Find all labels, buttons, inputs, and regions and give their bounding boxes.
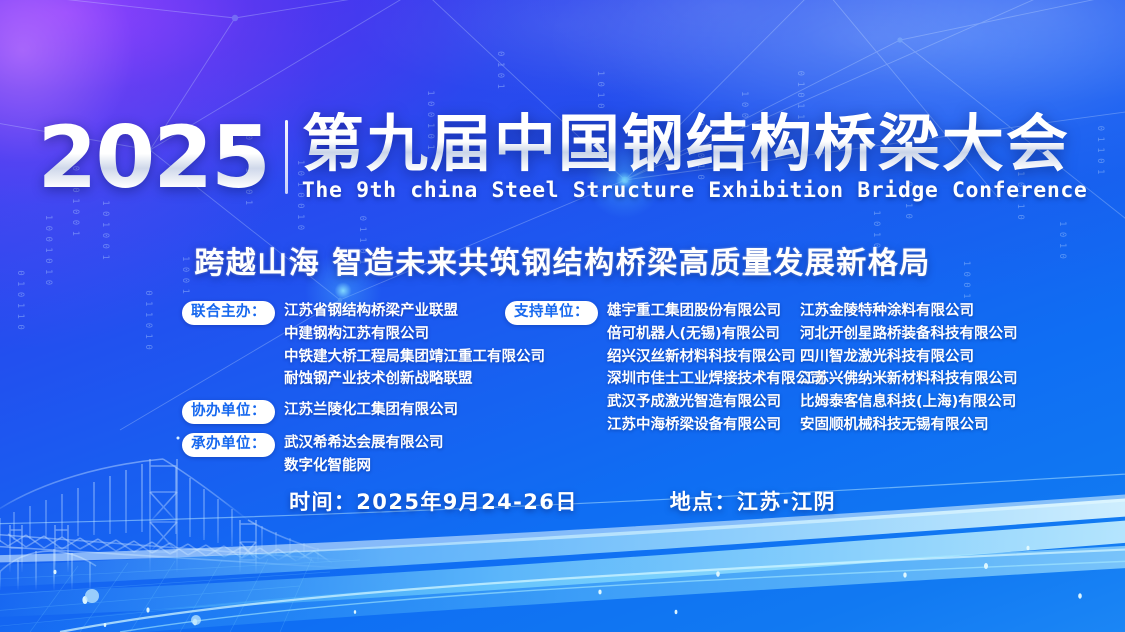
supporter-list: 雄宇重工集团股份有限公司 倍可机器人(无锡)有限公司 绍兴汉丝新材料科技有限公司…: [607, 300, 825, 437]
list-item: 深圳市佳士工业焊接技术有限公司: [607, 368, 825, 391]
title-text-stack: 第九届中国钢结构桥梁大会 The 9th china Steel Structu…: [302, 112, 1088, 203]
list-item: 比姆泰客信息科技(上海)有限公司: [800, 391, 1025, 414]
organizer-group-supporter: 支持单位： 雄宇重工集团股份有限公司 倍可机器人(无锡)有限公司 绍兴汉丝新材料…: [505, 300, 800, 437]
coorganizer-list: 江苏兰陵化工集团有限公司: [284, 399, 458, 422]
title-divider: [285, 120, 288, 194]
event-date: 时间：2025年9月24-26日: [289, 486, 578, 516]
label-supporter: 支持单位：: [505, 301, 598, 325]
title-block: 2025 第九届中国钢结构桥梁大会 The 9th china Steel St…: [0, 112, 1125, 203]
list-item: 武汉希希达会展有限公司: [284, 432, 444, 455]
list-item: 江苏中海桥梁设备有限公司: [607, 414, 825, 437]
undertaker-list: 武汉希希达会展有限公司 数字化智能网: [284, 432, 444, 478]
organizers-column-right: 江苏金陵特种涂料有限公司 河北开创星路桥装备科技有限公司 四川智龙激光科技有限公…: [800, 300, 1025, 437]
event-location: 地点：江苏·江阴: [670, 486, 836, 516]
list-item: 江苏兰陵化工集团有限公司: [284, 399, 458, 422]
list-item: 江苏兴佛纳米新材料科技有限公司: [800, 368, 1025, 391]
list-item: 河北开创星路桥装备科技有限公司: [800, 323, 1025, 346]
main-title-english: The 9th china Steel Structure Exhibition…: [302, 178, 1088, 203]
label-coorganizer: 协办单位：: [182, 400, 275, 424]
list-item: 安固顺机械科技无锡有限公司: [800, 414, 1025, 437]
slogan-text: 跨越山海 智造未来共筑钢结构桥梁高质量发展新格局: [0, 238, 1125, 282]
list-item: 四川智龙激光科技有限公司: [800, 346, 1025, 369]
list-item: 倍可机器人(无锡)有限公司: [607, 323, 825, 346]
year-text: 2025: [38, 118, 269, 199]
organizer-group-undertaker: 承办单位： 武汉希希达会展有限公司 数字化智能网: [182, 432, 502, 478]
label-undertaker: 承办单位：: [182, 433, 275, 457]
conference-banner: 0 1 0 1 1 0 1 0 0 1 0 1 0 0 1 0 1 0 1 0 …: [0, 0, 1125, 632]
supporter-list-continued: 江苏金陵特种涂料有限公司 河北开创星路桥装备科技有限公司 四川智龙激光科技有限公…: [800, 300, 1025, 437]
organizers-column-middle: 支持单位： 雄宇重工集团股份有限公司 倍可机器人(无锡)有限公司 绍兴汉丝新材料…: [505, 300, 800, 437]
organizers-column-left: 联合主办： 江苏省钢结构桥梁产业联盟 中建钢构江苏有限公司 中铁建大桥工程局集团…: [182, 300, 502, 477]
banner-content: 2025 第九届中国钢结构桥梁大会 The 9th china Steel St…: [0, 0, 1125, 632]
organizer-group-co-host: 联合主办： 江苏省钢结构桥梁产业联盟 中建钢构江苏有限公司 中铁建大桥工程局集团…: [182, 300, 502, 391]
list-item: 江苏金陵特种涂料有限公司: [800, 300, 1025, 323]
main-title-chinese: 第九届中国钢结构桥梁大会: [302, 112, 1088, 176]
label-co-host: 联合主办：: [182, 301, 275, 325]
organizer-group-coorganizer: 协办单位： 江苏兰陵化工集团有限公司: [182, 399, 502, 424]
list-item: 武汉予成激光智造有限公司: [607, 391, 825, 414]
event-meta: 时间：2025年9月24-26日 地点：江苏·江阴: [0, 486, 1125, 516]
list-item: 雄宇重工集团股份有限公司: [607, 300, 825, 323]
list-item: 绍兴汉丝新材料科技有限公司: [607, 346, 825, 369]
organizers-section: 联合主办： 江苏省钢结构桥梁产业联盟 中建钢构江苏有限公司 中铁建大桥工程局集团…: [182, 300, 1025, 477]
list-item: 数字化智能网: [284, 455, 444, 478]
